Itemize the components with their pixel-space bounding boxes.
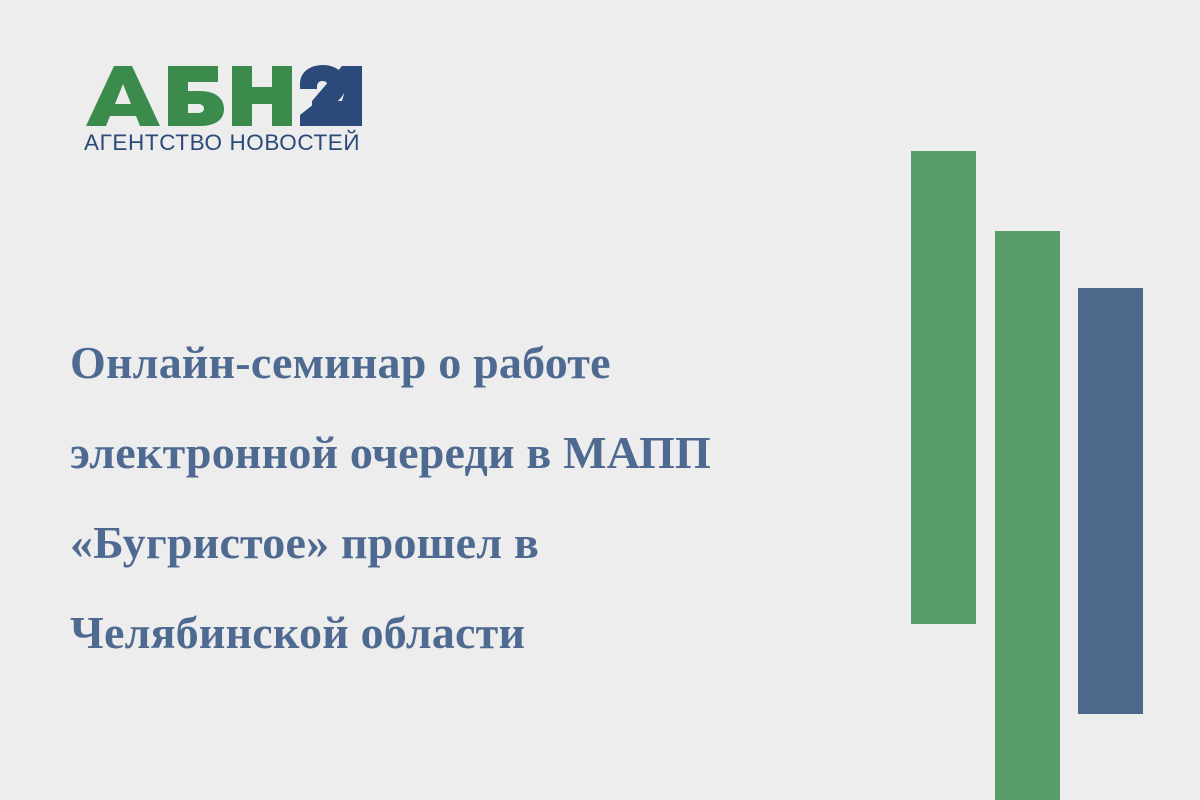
logo-letter-b	[168, 66, 224, 126]
abn24-logo[interactable]: АГЕНТСТВО НОВОСТЕЙ	[84, 64, 374, 154]
headline-line-4: Челябинской области	[70, 588, 870, 678]
logo-tagline-text: АГЕНТСТВО НОВОСТЕЙ	[84, 130, 360, 154]
logo-letter-a	[86, 66, 160, 126]
bar-green-tall	[911, 151, 976, 624]
bar-blue	[1078, 288, 1143, 714]
bar-green-bleed	[995, 231, 1060, 800]
headline-line-1: Онлайн-семинар о работе	[70, 318, 870, 408]
abn24-logo-mark: АГЕНТСТВО НОВОСТЕЙ	[84, 64, 362, 154]
page-title: Онлайн-семинар о работе электронной очер…	[70, 318, 870, 678]
headline-line-2: электронной очереди в МАПП	[70, 408, 870, 498]
news-card: АГЕНТСТВО НОВОСТЕЙ Онлайн-семинар о рабо…	[0, 0, 1200, 800]
headline-line-3: «Бугристое» прошел в	[70, 498, 870, 588]
logo-letter-n	[232, 66, 292, 126]
